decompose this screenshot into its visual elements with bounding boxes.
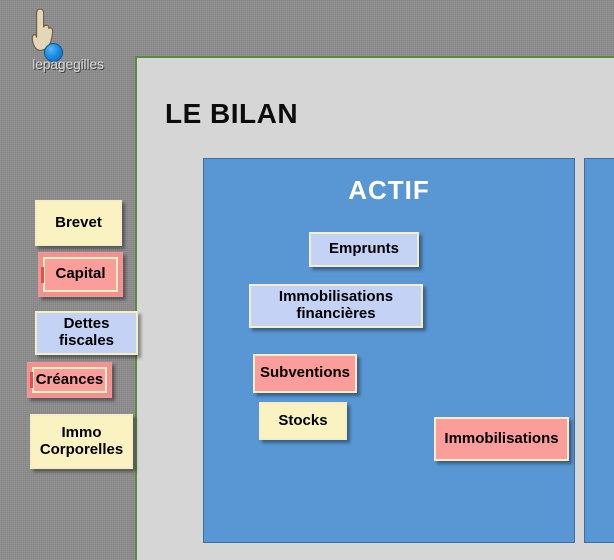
card-immo-corporelles-label: Immo Corporelles	[37, 425, 126, 459]
brand-label: lepagegilles	[8, 56, 128, 72]
card-stocks-label: Stocks	[278, 413, 327, 430]
brand-logo: lepagegilles	[8, 6, 128, 72]
card-subventions[interactable]: Subventions	[253, 354, 357, 393]
card-immobilisations-label: Immobilisations	[444, 431, 558, 448]
card-capital[interactable]: Capital	[38, 252, 123, 297]
card-immobilisations-financieres[interactable]: Immobilisations financières	[249, 284, 423, 328]
card-immo-corporelles[interactable]: Immo Corporelles	[30, 414, 133, 469]
card-creances-label: Créances	[32, 367, 107, 393]
card-stocks[interactable]: Stocks	[259, 402, 347, 440]
card-emprunts[interactable]: Emprunts	[309, 232, 419, 267]
panel-actif-heading: ACTIF	[204, 175, 574, 206]
card-dettes-fiscales[interactable]: Dettes fiscales	[35, 311, 138, 355]
card-immobilisations[interactable]: Immobilisations	[434, 417, 569, 461]
card-brevet-label: Brevet	[55, 215, 102, 232]
panel-passif[interactable]	[584, 158, 614, 543]
card-brevet[interactable]: Brevet	[35, 200, 122, 246]
card-dettes-fiscales-label: Dettes fiscales	[42, 316, 131, 350]
card-creances[interactable]: Créances	[27, 362, 112, 398]
card-immobilisations-financieres-label: Immobilisations financières	[256, 289, 416, 323]
panel-actif[interactable]: ACTIF	[203, 158, 575, 543]
card-emprunts-label: Emprunts	[329, 241, 399, 258]
card-subventions-label: Subventions	[260, 365, 350, 382]
page-title: LE BILAN	[165, 98, 298, 130]
card-capital-label: Capital	[43, 257, 118, 292]
